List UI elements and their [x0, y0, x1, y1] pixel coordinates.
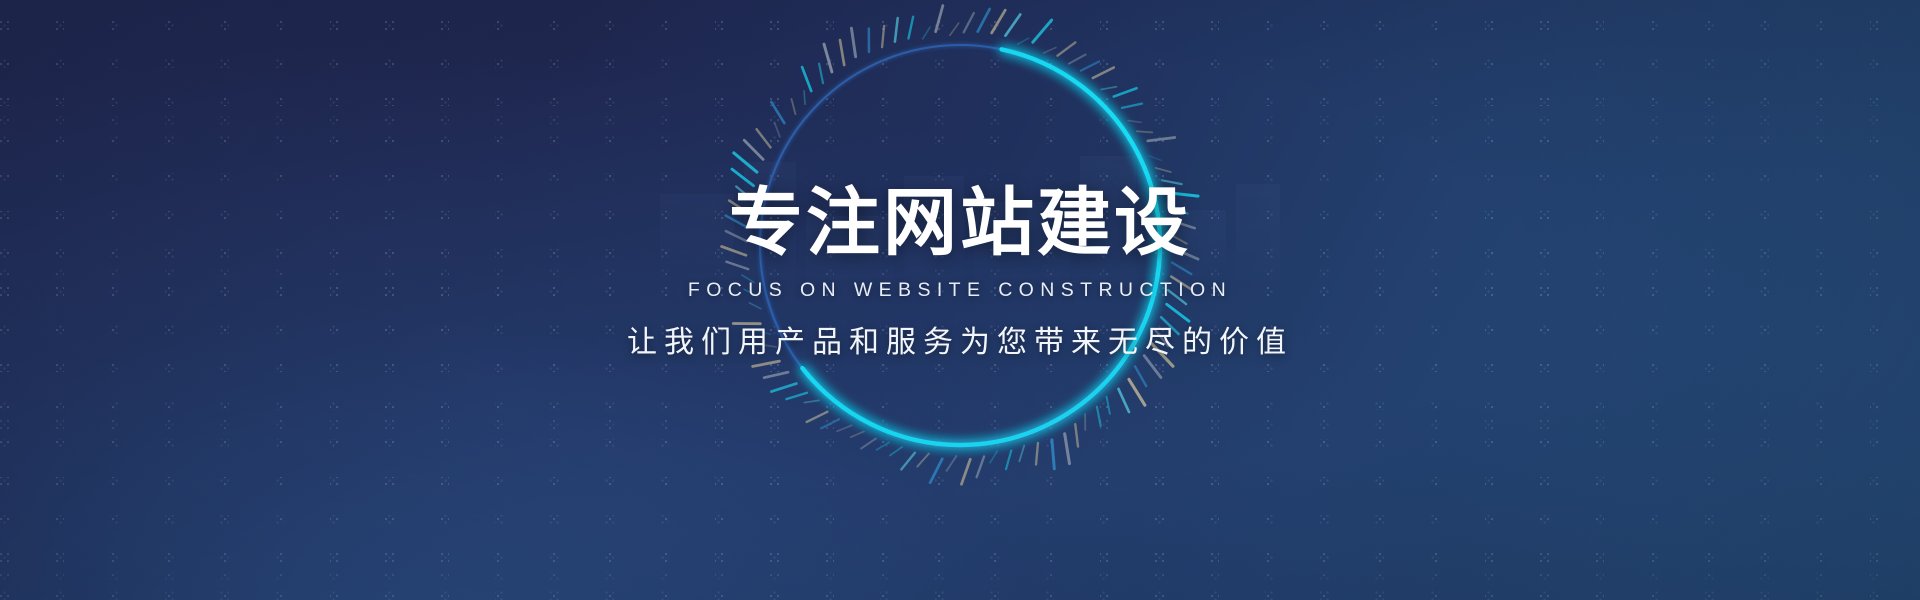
radial-tick: [786, 393, 807, 399]
radial-tick: [1107, 397, 1110, 414]
radial-tick: [1114, 88, 1137, 96]
radial-tick: [1135, 366, 1146, 386]
radial-tick: [1118, 389, 1129, 412]
radial-tick: [909, 17, 914, 39]
page-subtitle: FOCUS ON WEBSITE CONSTRUCTION: [0, 281, 1920, 301]
radial-tick: [917, 454, 928, 467]
radial-tick: [861, 439, 876, 449]
page-tagline: 让我们用产品和服务为您带来无尽的价值: [0, 328, 1920, 358]
hero-banner: 专注网站建设 FOCUS ON WEBSITE CONSTRUCTION 让我们…: [0, 0, 1920, 600]
hero-text-block: 专注网站建设 FOCUS ON WEBSITE CONSTRUCTION 让我们…: [0, 186, 1920, 358]
page-title: 专注网站建设: [0, 186, 1920, 260]
radial-tick: [1057, 42, 1075, 55]
radial-tick: [851, 28, 855, 56]
radial-tick: [771, 102, 784, 123]
radial-tick: [734, 153, 757, 172]
radial-tick: [757, 129, 771, 147]
radial-tick: [1036, 443, 1038, 465]
radial-tick: [824, 44, 832, 72]
radial-tick: [804, 400, 819, 402]
radial-tick: [1149, 156, 1161, 160]
radial-tick: [1075, 424, 1078, 446]
radial-tick: [978, 9, 990, 32]
radial-tick: [961, 459, 970, 484]
radial-tick: [901, 453, 915, 470]
radial-tick: [990, 451, 997, 463]
radial-tick: [1148, 137, 1175, 140]
radial-tick: [947, 456, 957, 471]
radial-tick: [1101, 87, 1116, 90]
radial-tick: [1044, 48, 1056, 53]
radial-tick: [1081, 61, 1099, 70]
radial-tick: [802, 67, 811, 91]
radial-tick: [977, 456, 984, 477]
radial-tick: [1006, 451, 1011, 470]
radial-tick: [936, 6, 943, 32]
radial-tick: [1156, 168, 1171, 172]
radial-tick: [791, 99, 795, 114]
radial-tick: [821, 419, 839, 428]
radial-tick: [807, 412, 828, 422]
radial-tick: [923, 27, 930, 39]
radial-tick: [882, 26, 884, 47]
radial-tick: [837, 425, 851, 431]
radial-tick: [1122, 104, 1142, 108]
radial-tick: [804, 91, 805, 104]
radial-tick: [1018, 38, 1029, 44]
radial-tick: [840, 40, 844, 65]
radial-tick: [950, 23, 959, 35]
radial-tick: [775, 123, 780, 137]
radial-tick: [1033, 20, 1052, 42]
radial-tick: [1052, 440, 1054, 469]
radial-tick: [1005, 14, 1020, 35]
radial-tick: [744, 140, 763, 159]
radial-tick: [771, 384, 796, 392]
radial-tick: [1069, 55, 1086, 64]
radial-tick: [764, 372, 788, 377]
radial-tick: [1065, 434, 1070, 464]
radial-tick: [1019, 446, 1024, 462]
radial-tick: [895, 18, 898, 42]
radial-tick: [1097, 407, 1101, 426]
radial-tick: [877, 442, 889, 449]
radial-tick: [890, 447, 902, 456]
radial-tick: [1129, 379, 1145, 405]
radial-tick: [992, 10, 1006, 33]
radial-tick: [1137, 131, 1152, 132]
radial-tick: [1093, 67, 1114, 78]
radial-tick: [930, 459, 942, 483]
radial-tick: [964, 13, 974, 32]
radial-tick: [753, 361, 780, 366]
radial-tick: [851, 432, 864, 438]
radial-tick: [1128, 121, 1141, 123]
radial-tick: [819, 64, 823, 84]
